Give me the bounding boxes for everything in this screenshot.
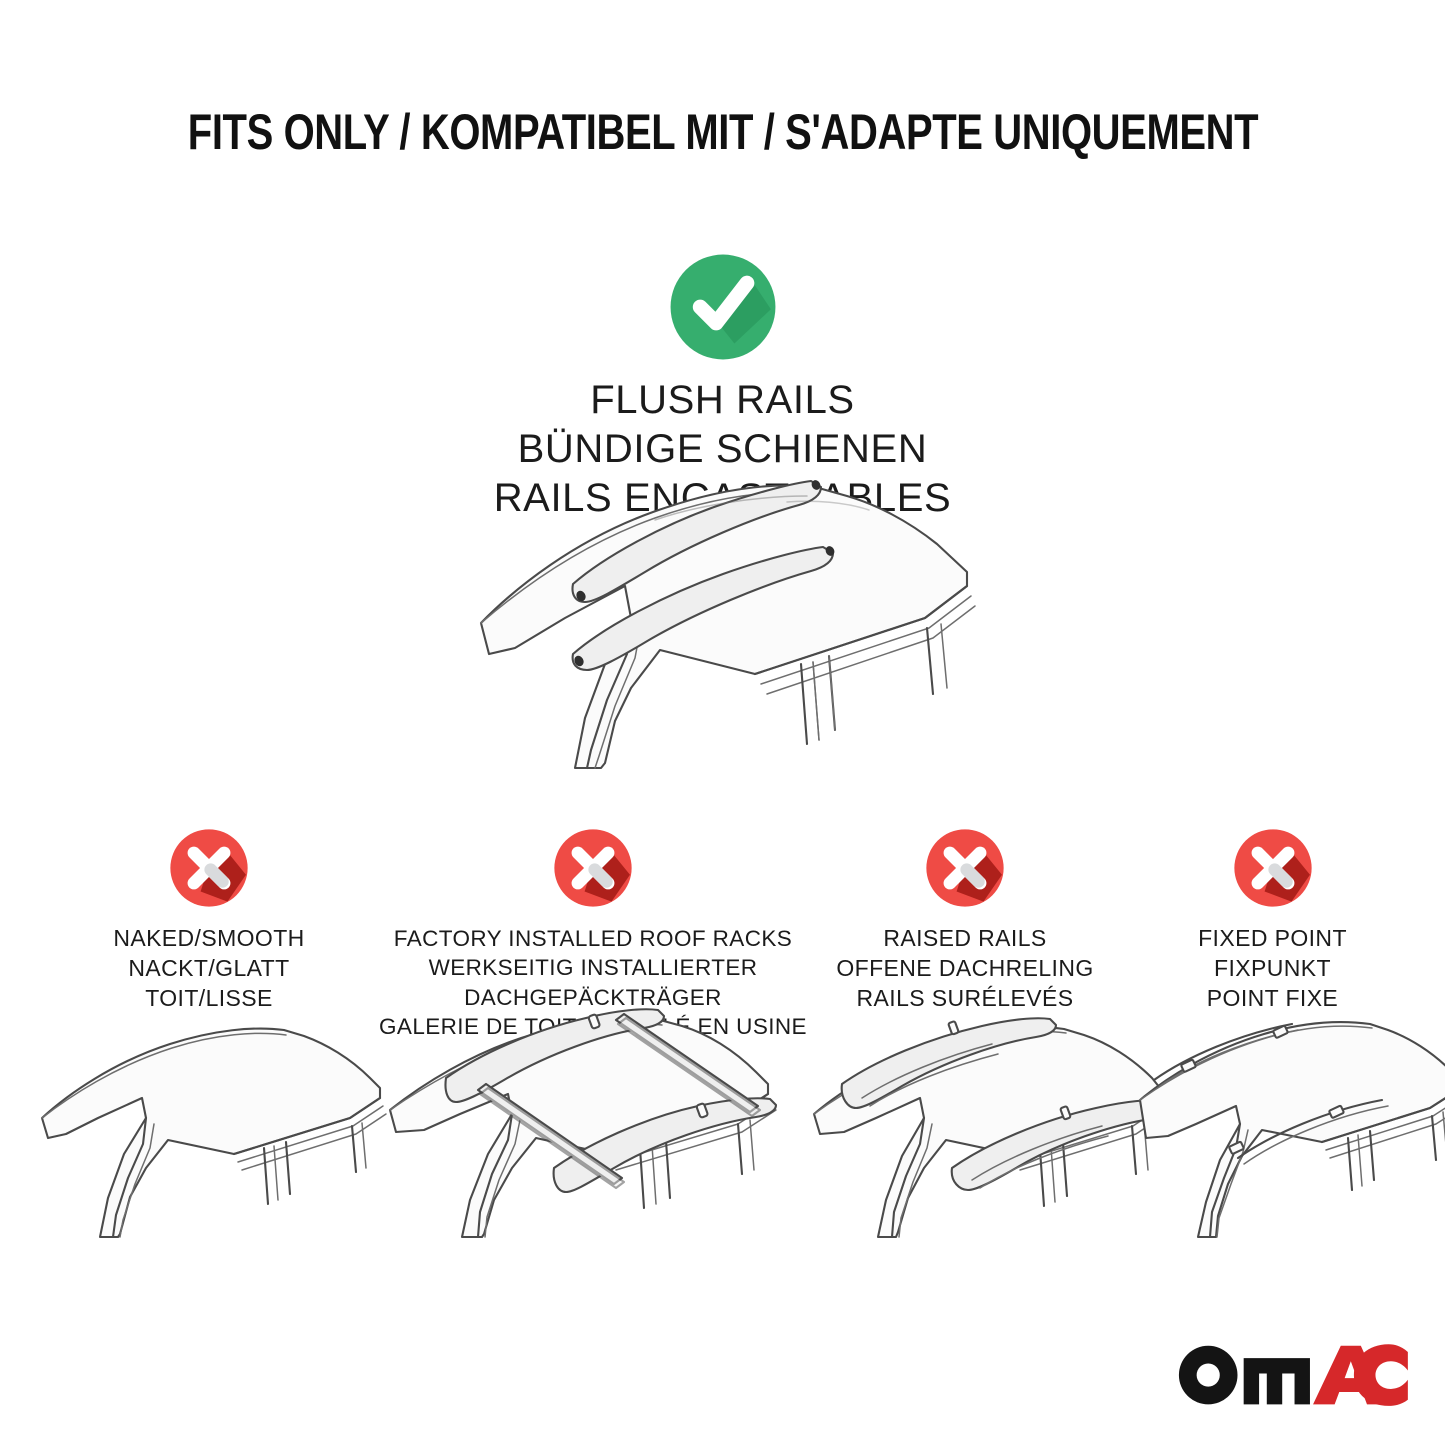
car-roof-naked-smooth-illustration — [28, 1022, 390, 1237]
incompatible-section: NAKED/SMOOTH NACKT/GLATT TOIT/LISSE — [0, 826, 1445, 1256]
label-en: RAISED RAILS — [800, 924, 1130, 954]
label-de: FIXPUNKT — [1130, 954, 1415, 984]
label-fr: POINT FIXE — [1130, 984, 1415, 1014]
label-en: FIXED POINT — [1130, 924, 1415, 954]
incompatible-column-factory-racks: FACTORY INSTALLED ROOF RACKS WERKSEITIG … — [368, 826, 818, 1041]
compatible-label-en: FLUSH RAILS — [0, 376, 1445, 425]
label-de: OFFENE DACHRELING — [800, 954, 1130, 984]
label-de1: WERKSEITIG INSTALLIERTER — [368, 953, 818, 982]
logo-letter-m — [1244, 1358, 1310, 1404]
red-x-icon — [167, 826, 251, 910]
page-title-text: FITS ONLY / KOMPATIBEL MIT / S'ADAPTE UN… — [187, 103, 1257, 161]
incompatible-column-raised-rails: RAISED RAILS OFFENE DACHRELING RAILS SUR… — [800, 826, 1130, 1014]
page-title: FITS ONLY / KOMPATIBEL MIT / S'ADAPTE UN… — [0, 103, 1445, 161]
logo-letter-o — [1179, 1346, 1238, 1405]
label-fr: TOIT/LISSE — [28, 984, 390, 1014]
car-roof-raised-rails-illustration — [800, 1012, 1130, 1237]
label-de: NACKT/GLATT — [28, 954, 390, 984]
label-en: NAKED/SMOOTH — [28, 924, 390, 954]
compatibility-infographic: FITS ONLY / KOMPATIBEL MIT / S'ADAPTE UN… — [0, 0, 1445, 1445]
car-roof-flush-rails-illustration — [455, 468, 1015, 768]
red-x-icon — [1231, 826, 1315, 910]
compatible-label-de: BÜNDIGE SCHIENEN — [0, 425, 1445, 474]
incompatible-column-naked-smooth: NAKED/SMOOTH NACKT/GLATT TOIT/LISSE — [28, 826, 390, 1014]
red-x-icon — [923, 826, 1007, 910]
omac-logo — [1177, 1335, 1409, 1409]
car-roof-factory-racks-illustration — [368, 1002, 818, 1237]
label-en: FACTORY INSTALLED ROOF RACKS — [368, 924, 818, 953]
car-roof-fixed-point-illustration — [1130, 1022, 1415, 1237]
incompatible-column-fixed-point: FIXED POINT FIXPUNKT POINT FIXE — [1130, 826, 1415, 1014]
label-fr: RAILS SURÉLEVÉS — [800, 984, 1130, 1014]
incompatible-labels-raised-rails: RAISED RAILS OFFENE DACHRELING RAILS SUR… — [800, 924, 1130, 1014]
incompatible-labels-naked-smooth: NAKED/SMOOTH NACKT/GLATT TOIT/LISSE — [28, 924, 390, 1014]
red-x-icon — [551, 826, 635, 910]
incompatible-labels-fixed-point: FIXED POINT FIXPUNKT POINT FIXE — [1130, 924, 1415, 1014]
green-check-icon — [666, 250, 780, 364]
